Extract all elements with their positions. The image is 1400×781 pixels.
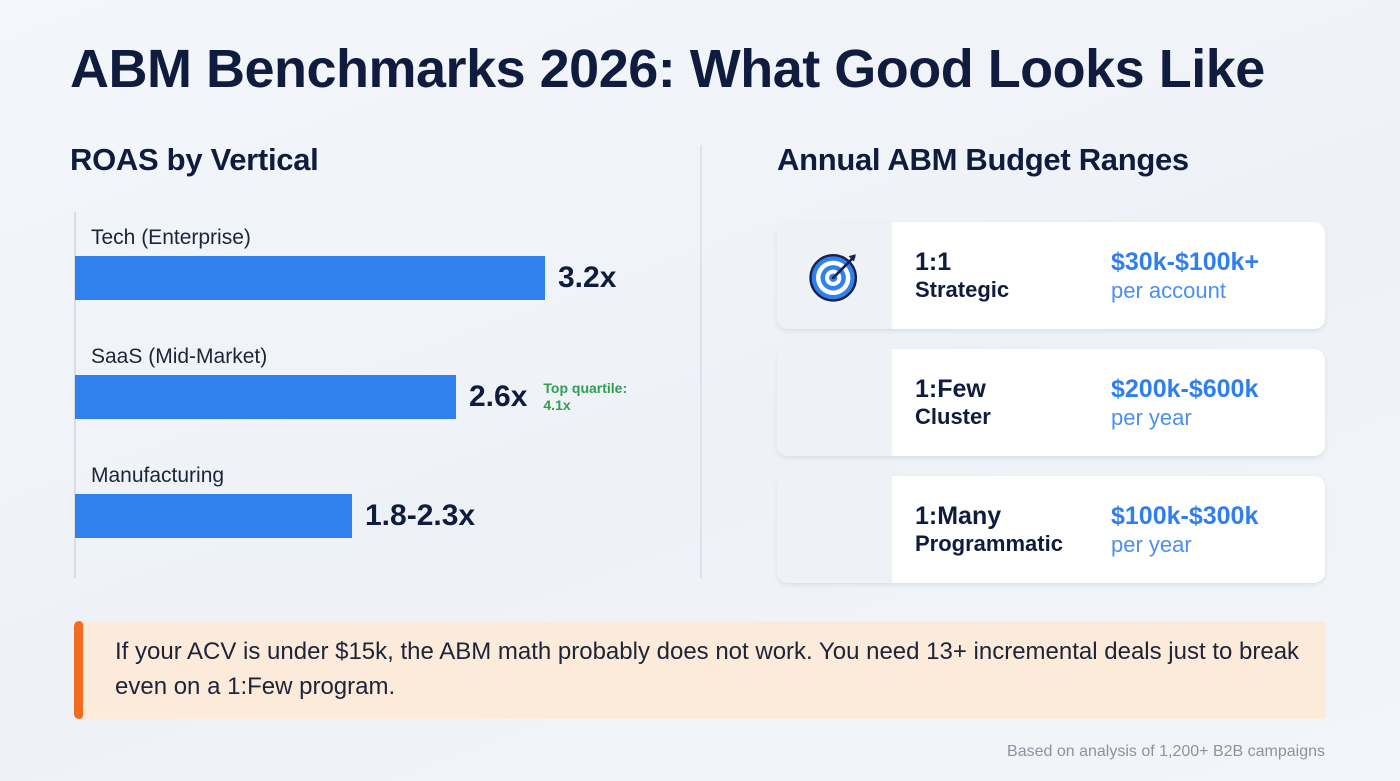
budget-card[interactable]: 1:Many Programmatic $100k-$300k per year — [777, 476, 1325, 583]
budget-card[interactable]: 1:1 Strategic $30k-$100k+ per account — [777, 222, 1325, 329]
callout-box: If your ACV is under $15k, the ABM math … — [74, 621, 1326, 719]
bar-row: 3.2x — [75, 256, 616, 300]
callout-text: If your ACV is under $15k, the ABM math … — [83, 621, 1326, 719]
bar-category-label: SaaS (Mid-Market) — [75, 345, 627, 369]
budget-card[interactable]: 1:Few Cluster $200k-$600k per year — [777, 349, 1325, 456]
top-quartile-annotation: Top quartile: 4.1x — [543, 380, 627, 415]
card-tier: 1:Many Programmatic — [915, 501, 1111, 558]
bar-rect — [75, 494, 352, 538]
card-icon-panel — [777, 222, 892, 329]
footer-source-note: Based on analysis of 1,200+ B2B campaign… — [1007, 743, 1325, 761]
card-icon-panel — [777, 349, 892, 456]
card-amount: $30k-$100k+ per account — [1111, 247, 1309, 305]
bar-rect — [75, 375, 456, 419]
card-amount: $100k-$300k per year — [1111, 501, 1309, 559]
card-body: 1:Many Programmatic $100k-$300k per year — [892, 476, 1325, 583]
page-title: ABM Benchmarks 2026: What Good Looks Lik… — [70, 38, 1265, 100]
card-amount-main: $100k-$300k — [1111, 501, 1309, 532]
bar-rect — [75, 256, 545, 300]
card-tier: 1:1 Strategic — [915, 247, 1111, 304]
card-amount-sub: per year — [1111, 404, 1309, 432]
bar-row: 2.6x Top quartile: 4.1x — [75, 375, 627, 419]
annotation-line-1: Top quartile: — [543, 380, 627, 396]
callout-accent-bar — [74, 621, 83, 719]
bar-value-label: 1.8-2.3x — [365, 499, 475, 533]
bar-group-2: Manufacturing 1.8-2.3x — [75, 464, 475, 538]
bar-value-label: 2.6x — [469, 380, 527, 414]
card-tier-sub: Cluster — [915, 404, 1111, 431]
card-tier-name: 1:1 — [915, 247, 1111, 278]
card-icon-panel — [777, 476, 892, 583]
card-amount-main: $30k-$100k+ — [1111, 247, 1309, 278]
bar-group-1: SaaS (Mid-Market) 2.6x Top quartile: 4.1… — [75, 345, 627, 419]
roas-heading: ROAS by Vertical — [70, 142, 690, 178]
card-amount-sub: per year — [1111, 531, 1309, 559]
card-body: 1:Few Cluster $200k-$600k per year — [892, 349, 1325, 456]
dartboard-icon — [806, 247, 864, 305]
card-body: 1:1 Strategic $30k-$100k+ per account — [892, 222, 1325, 329]
budget-heading: Annual ABM Budget Ranges — [777, 142, 1325, 178]
bar-value-label: 3.2x — [558, 261, 616, 295]
bar-group-0: Tech (Enterprise) 3.2x — [75, 226, 616, 300]
roas-bar-chart: Tech (Enterprise) 3.2x SaaS (Mid-Market)… — [70, 212, 690, 578]
budget-card-list: 1:1 Strategic $30k-$100k+ per account 1:… — [777, 222, 1325, 603]
bar-row: 1.8-2.3x — [75, 494, 475, 538]
card-amount: $200k-$600k per year — [1111, 374, 1309, 432]
card-tier-name: 1:Many — [915, 501, 1111, 532]
card-tier-sub: Programmatic — [915, 531, 1111, 558]
card-amount-main: $200k-$600k — [1111, 374, 1309, 405]
bar-category-label: Manufacturing — [75, 464, 475, 488]
card-amount-sub: per account — [1111, 277, 1309, 305]
column-divider — [700, 145, 702, 578]
card-tier-sub: Strategic — [915, 277, 1111, 304]
card-tier: 1:Few Cluster — [915, 374, 1111, 431]
annotation-line-2: 4.1x — [543, 397, 570, 413]
bar-category-label: Tech (Enterprise) — [75, 226, 616, 250]
card-tier-name: 1:Few — [915, 374, 1111, 405]
roas-section-header: ROAS by Vertical — [70, 142, 690, 178]
infographic-page: ABM Benchmarks 2026: What Good Looks Lik… — [0, 0, 1400, 781]
budget-section-header: Annual ABM Budget Ranges — [777, 142, 1325, 178]
